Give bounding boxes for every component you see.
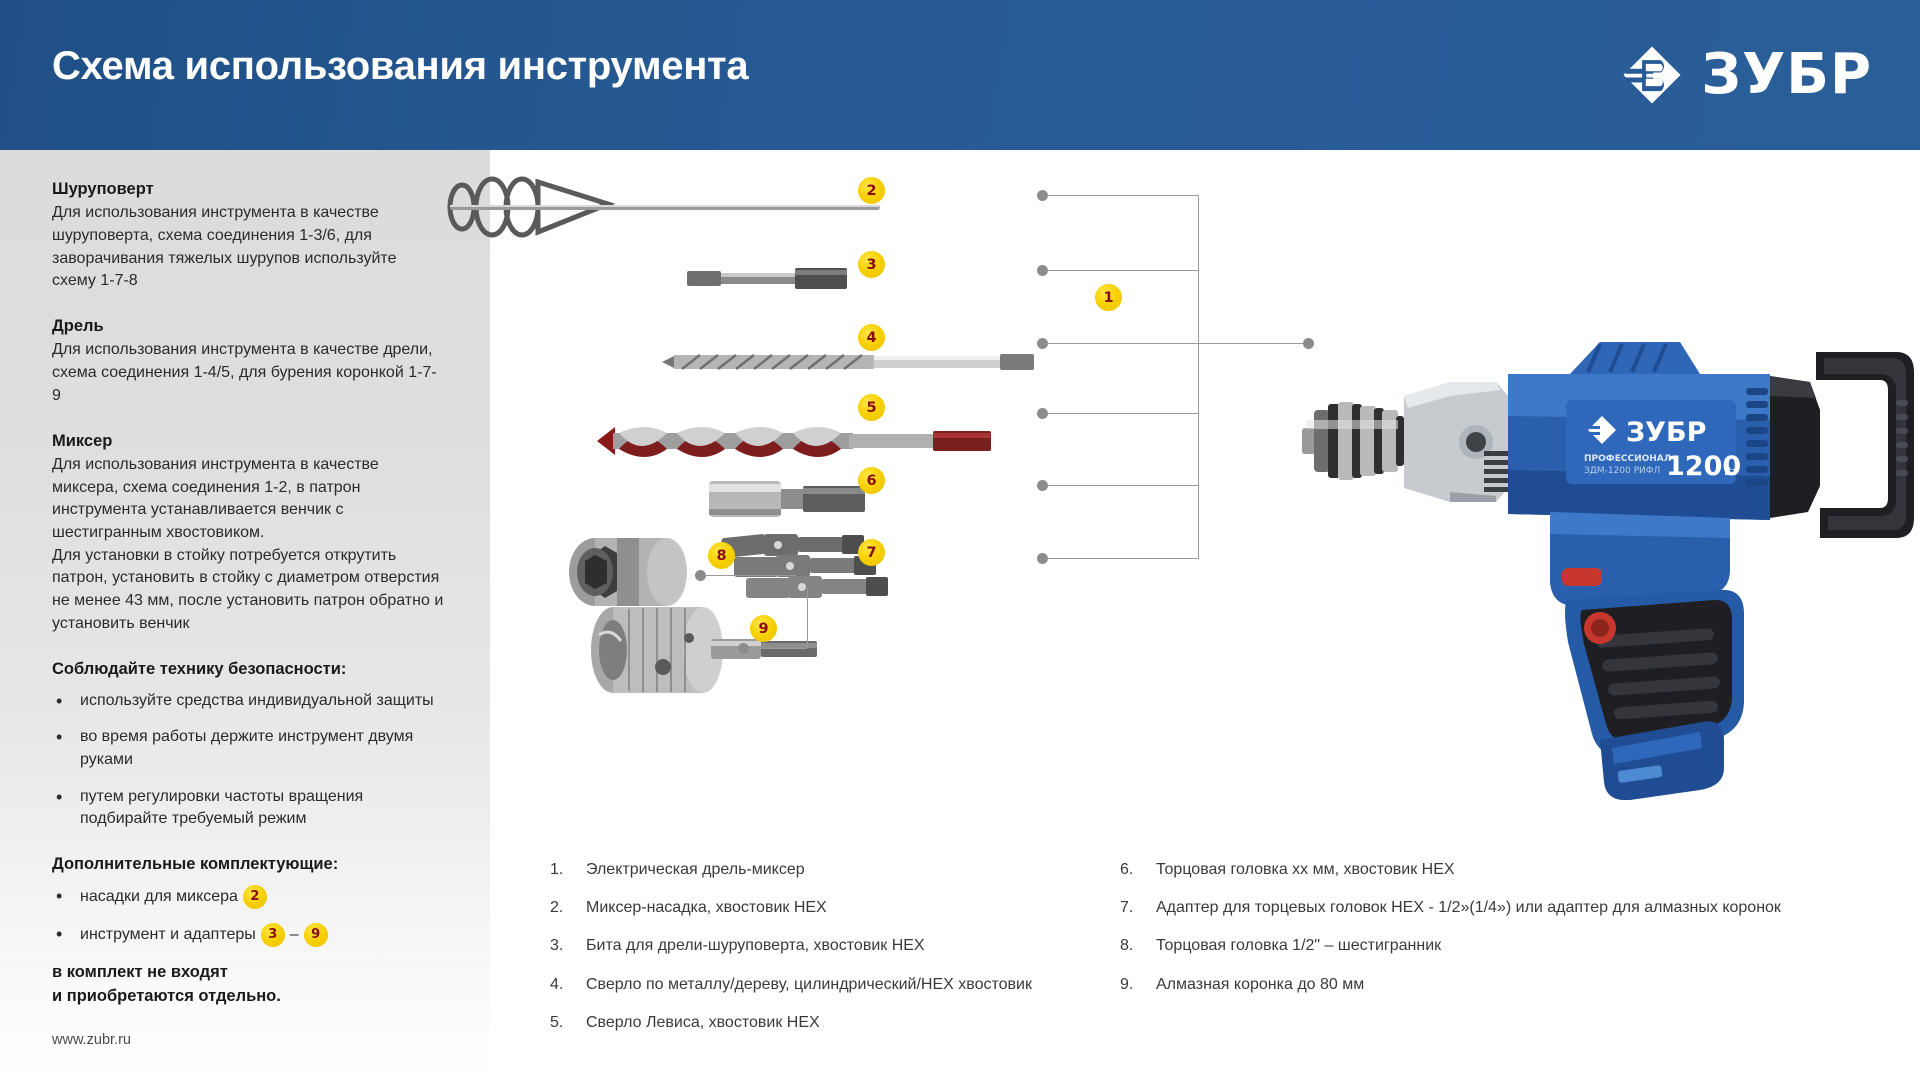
connector-line-8 xyxy=(704,575,796,576)
legend-text: Торцовая головка хх мм, хвостовик HEX xyxy=(1156,860,1455,879)
connector-line-3 xyxy=(1046,270,1198,271)
legend-item: 9. Алмазная коронка до 80 мм xyxy=(1120,975,1910,994)
connector-line-7 xyxy=(1046,558,1198,559)
connector-line-6 xyxy=(1046,485,1198,486)
section-heading: Шуруповерт xyxy=(52,178,444,200)
tool-lock-button xyxy=(1562,568,1602,586)
legend-item: 4. Сверло по металлу/дереву, цилиндричес… xyxy=(550,975,1070,994)
section-body: Для использования инструмента в качестве… xyxy=(52,454,444,636)
safety-list-item: во время работы держите инструмент двумя… xyxy=(52,726,444,771)
connector-line-4 xyxy=(1046,343,1306,344)
diamond-core-bit-accessory xyxy=(585,605,835,695)
safety-list: используйте средства индивидуальной защи… xyxy=(52,690,444,832)
extras-list-item-mixer-attachments: насадки для миксера 2 xyxy=(52,885,444,909)
legend-text: Торцовая головка 1/2" – шестигранник xyxy=(1156,936,1441,955)
section-body: Для использования инструмента в качестве… xyxy=(52,339,444,407)
callout-badge-5: 5 xyxy=(858,394,885,421)
legend-number: 1. xyxy=(550,860,586,879)
legend-item: 6. Торцовая головка хх мм, хвостовик HEX xyxy=(1120,860,1910,879)
badge-2: 2 xyxy=(243,885,267,909)
connector-line-9-riser xyxy=(807,588,808,648)
brand-wordmark: ЗУБР xyxy=(1701,47,1872,103)
safety-heading: Соблюдайте технику безопасности: xyxy=(52,660,444,679)
legend-item: 7. Адаптер для торцевых головок HEX - 1/… xyxy=(1120,898,1910,917)
callout-badge-4: 4 xyxy=(858,324,885,351)
callout-badge-1: 1 xyxy=(1095,284,1122,311)
extras-label: инструмент и адаптеры xyxy=(80,924,256,947)
extras-label: насадки для миксера xyxy=(80,886,238,909)
legend-text: Миксер-насадка, хвостовик HEX xyxy=(586,898,827,917)
callout-badge-3: 3 xyxy=(858,251,885,278)
footnote-line-1: в комплект не входят xyxy=(52,961,444,984)
section-heading: Миксер xyxy=(52,430,444,452)
legend-column-left: 1. Электрическая дрель-миксер 2. Миксер-… xyxy=(550,860,1070,1051)
twist-drill-bit-accessory xyxy=(660,345,1040,379)
legend-text: Адаптер для торцевых головок HEX - 1/2»(… xyxy=(1156,898,1781,917)
legend-item: 3. Бита для дрели-шуруповерта, хвостовик… xyxy=(550,936,1070,955)
connector-line-2 xyxy=(1046,195,1198,196)
lewis-auger-bit-accessory xyxy=(595,415,995,467)
svg-text:ЗУБР: ЗУБР xyxy=(1626,417,1706,448)
extras-heading: Дополнительные комплектующие: xyxy=(52,855,444,874)
callout-badge-2: 2 xyxy=(858,177,885,204)
legend-text: Сверло по металлу/дереву, цилиндрический… xyxy=(586,975,1032,994)
sidebar-section-drill: Дрель Для использования инструмента в ка… xyxy=(52,315,444,407)
extras-list: насадки для миксера 2 инструмент и адапт… xyxy=(52,885,444,947)
legend-number: 5. xyxy=(550,1013,586,1032)
legend-number: 6. xyxy=(1120,860,1156,879)
connector-line-5 xyxy=(1046,413,1198,414)
svg-text:Вт: Вт xyxy=(1724,465,1739,478)
socket-hex-shank-accessory xyxy=(705,475,875,523)
brand-logo: ЗУБР xyxy=(1621,40,1872,110)
callout-badge-9: 9 xyxy=(750,615,777,642)
legend-item: 8. Торцовая головка 1/2" – шестигранник xyxy=(1120,936,1910,955)
callout-badge-7: 7 xyxy=(858,539,885,566)
section-body: Для использования инструмента в качестве… xyxy=(52,202,444,293)
badge-9: 9 xyxy=(304,923,328,947)
legend: 1. Электрическая дрель-миксер 2. Миксер-… xyxy=(490,860,1920,1080)
page-header: Схема использования инструмента ЗУБР xyxy=(0,0,1920,150)
legend-number: 8. xyxy=(1120,936,1156,955)
website-url[interactable]: www.zubr.ru xyxy=(52,1032,131,1048)
svg-text:ЗДМ-1200 РИФЛ: ЗДМ-1200 РИФЛ xyxy=(1584,466,1660,476)
sidebar: Шуруповерт Для использования инструмента… xyxy=(0,150,490,1080)
callout-badge-6: 6 xyxy=(858,467,885,494)
legend-number: 4. xyxy=(550,975,586,994)
socket-half-inch-accessory xyxy=(565,535,700,610)
legend-text: Бита для дрели-шуруповерта, хвостовик HE… xyxy=(586,936,925,955)
safety-list-item: путем регулировки частоты вращения подби… xyxy=(52,786,444,831)
legend-item: 1. Электрическая дрель-миксер xyxy=(550,860,1070,879)
sidebar-section-mixer: Миксер Для использования инструмента в к… xyxy=(52,430,444,636)
legend-column-right: 6. Торцовая головка хх мм, хвостовик HEX… xyxy=(1120,860,1910,1013)
extras-list-item-tool-adapters: инструмент и адаптеры 3 – 9 xyxy=(52,923,444,947)
safety-list-item: используйте средства индивидуальной защи… xyxy=(52,690,444,713)
legend-number: 2. xyxy=(550,898,586,917)
badge-range-separator: – xyxy=(290,924,299,947)
legend-text: Сверло Левиса, хвостовик HEX xyxy=(586,1013,820,1032)
legend-text: Алмазная коронка до 80 мм xyxy=(1156,975,1364,994)
screwdriver-bit-accessory xyxy=(685,260,855,298)
callout-badge-8: 8 xyxy=(708,542,735,569)
mixer-paddle-accessory xyxy=(430,160,900,250)
electric-drill-mixer-tool: ЗУБР ПРОФЕССИОНАЛ ЗДМ-1200 РИФЛ 1200 Вт xyxy=(1300,270,1920,800)
legend-number: 7. xyxy=(1120,898,1156,917)
svg-text:ПРОФЕССИОНАЛ: ПРОФЕССИОНАЛ xyxy=(1584,454,1671,464)
legend-text: Электрическая дрель-миксер xyxy=(586,860,805,879)
zubr-diamond-logo-icon xyxy=(1621,44,1683,106)
legend-item: 2. Миксер-насадка, хвостовик HEX xyxy=(550,898,1070,917)
section-heading: Дрель xyxy=(52,315,444,337)
page-title: Схема использования инструмента xyxy=(52,44,748,89)
legend-number: 3. xyxy=(550,936,586,955)
footnote-line-2: и приобретаются отдельно. xyxy=(52,985,444,1008)
connector-bus-vertical xyxy=(1198,195,1199,559)
connector-line-9 xyxy=(747,648,807,649)
legend-item: 5. Сверло Левиса, хвостовик HEX xyxy=(550,1013,1070,1032)
legend-number: 9. xyxy=(1120,975,1156,994)
sidebar-section-screwdriver: Шуруповерт Для использования инструмента… xyxy=(52,178,444,293)
badge-3: 3 xyxy=(261,923,285,947)
